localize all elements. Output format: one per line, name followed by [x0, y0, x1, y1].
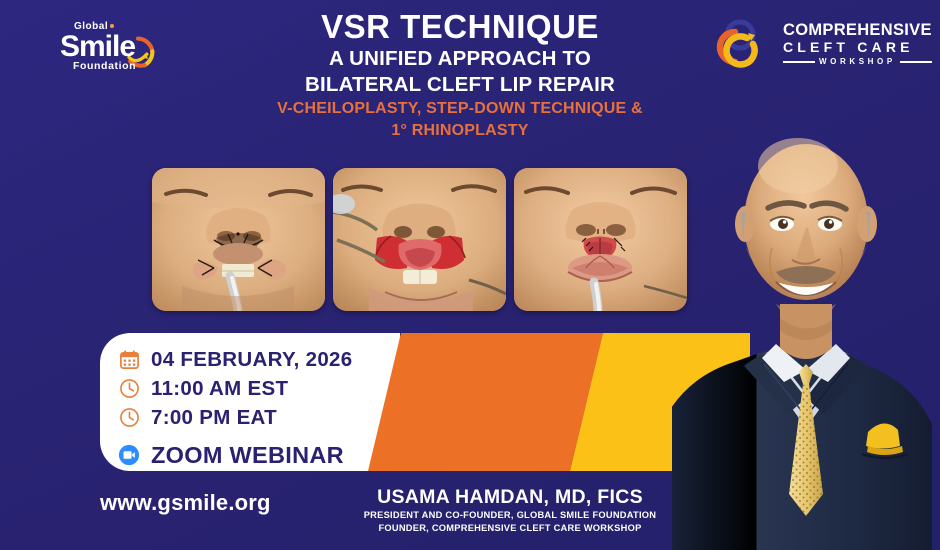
cccw-rule-left: [783, 61, 815, 63]
speaker-name: USAMA HAMDAN, MD, FICS: [330, 485, 690, 509]
event-platform-label: ZOOM WEBINAR: [151, 442, 344, 469]
subtitle-line-2: BILATERAL CLEFT LIP REPAIR: [190, 72, 730, 98]
speaker-role-line-2: FOUNDER, COMPREHENSIVE CLEFT CARE WORKSH…: [330, 522, 690, 535]
cccw-line-workshop: WORKSHOP: [783, 56, 932, 68]
cccw-line-comprehensive: COMPREHENSIVE: [783, 21, 932, 39]
zoom-icon: [118, 444, 140, 466]
speaker-portrait: [672, 72, 940, 550]
gsf-logo-foundation: Foundation: [73, 61, 152, 72]
banner-orange-stripe: [368, 333, 603, 471]
cccw-logo-wordmark: COMPREHENSIVE CLEFT CARE WORKSHOP: [783, 21, 932, 68]
gsf-logo-wordmark: Global Smile Foundation: [60, 22, 152, 72]
clinical-photo-preop: [152, 168, 325, 311]
event-platform-row: ZOOM WEBINAR: [118, 438, 383, 472]
webinar-poster: Global Smile Foundation COMPREHENSIVE CL…: [0, 0, 940, 550]
clock-icon: [118, 407, 140, 429]
global-smile-foundation-logo[interactable]: Global Smile Foundation: [60, 16, 190, 88]
website-url[interactable]: www.gsmile.org: [100, 490, 271, 516]
clinical-photo-row: [152, 168, 687, 311]
speaker-caption: USAMA HAMDAN, MD, FICS PRESIDENT AND CO-…: [330, 485, 690, 535]
subtitle-line-1: A UNIFIED APPROACH TO: [190, 46, 730, 72]
event-time-eat-text: 7:00 PM EAT: [151, 406, 277, 430]
event-date-text: 04 FEBRUARY, 2026: [151, 348, 352, 372]
clinical-photo-intraop: [333, 168, 506, 311]
gsf-logo-smile: Smile: [60, 32, 152, 61]
technique-line-2: 1° RHINOPLASTY: [190, 120, 730, 142]
technique-line-1: V-CHEILOPLASTY, STEP-DOWN TECHNIQUE &: [190, 98, 730, 120]
clock-icon: [118, 378, 140, 400]
event-details-banner: 04 FEBRUARY, 2026 11:00 AM EST: [100, 333, 690, 471]
cccw-workshop-text: WORKSHOP: [819, 56, 896, 68]
event-time-est-text: 11:00 AM EST: [151, 377, 288, 401]
event-date-row: 04 FEBRUARY, 2026: [118, 345, 383, 374]
event-time-eat-row: 7:00 PM EAT: [118, 403, 383, 432]
event-time-est-row: 11:00 AM EST: [118, 374, 383, 403]
page-title: VSR TECHNIQUE: [190, 8, 730, 46]
title-block: VSR TECHNIQUE A UNIFIED APPROACH TO BILA…: [190, 8, 730, 142]
speaker-role-line-1: PRESIDENT AND CO-FOUNDER, GLOBAL SMILE F…: [330, 509, 690, 522]
cccw-rule-right: [900, 61, 932, 63]
cccw-line-cleftcare: CLEFT CARE: [783, 39, 932, 56]
clinical-photo-postop: [514, 168, 687, 311]
gsf-logo-dot: [110, 24, 114, 28]
calendar-icon: [118, 349, 140, 371]
comprehensive-cleft-care-workshop-logo[interactable]: COMPREHENSIVE CLEFT CARE WORKSHOP: [707, 16, 922, 78]
event-info-list: 04 FEBRUARY, 2026 11:00 AM EST: [118, 345, 383, 472]
